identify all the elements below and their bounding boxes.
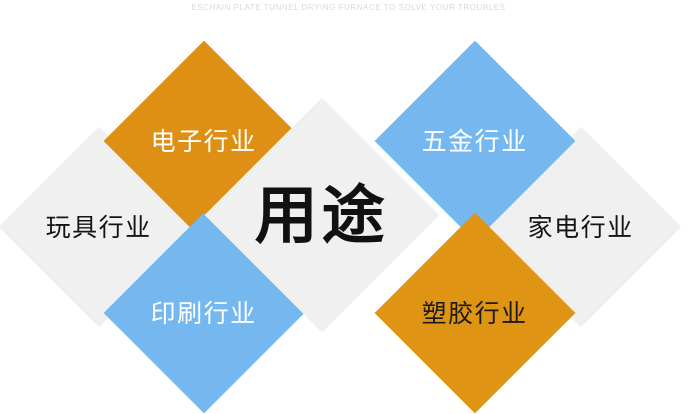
diamond-label-center: 用途 [255,184,389,247]
diamond-label-toys: 玩具行业 [46,214,152,239]
page-root: ESCHAIN PLATE TUNNEL DRYING FURNACE TO S… [0,0,697,414]
header-tagline: ESCHAIN PLATE TUNNEL DRYING FURNACE TO S… [0,2,697,13]
diamond-label-hardware: 五金行业 [422,128,528,153]
usage-diamond-diagram: 玩具行业 家电行业 电子行业 五金行业 印刷行业 塑胶行业 用途 [0,18,697,414]
diamond-label-electronics: 电子行业 [151,128,257,153]
diamond-label-printing: 印刷行业 [151,300,257,325]
header-strip: ESCHAIN PLATE TUNNEL DRYING FURNACE TO S… [0,0,697,18]
diamond-label-plastics: 塑胶行业 [422,300,528,325]
diamond-label-home-appliance: 家电行业 [528,214,634,239]
